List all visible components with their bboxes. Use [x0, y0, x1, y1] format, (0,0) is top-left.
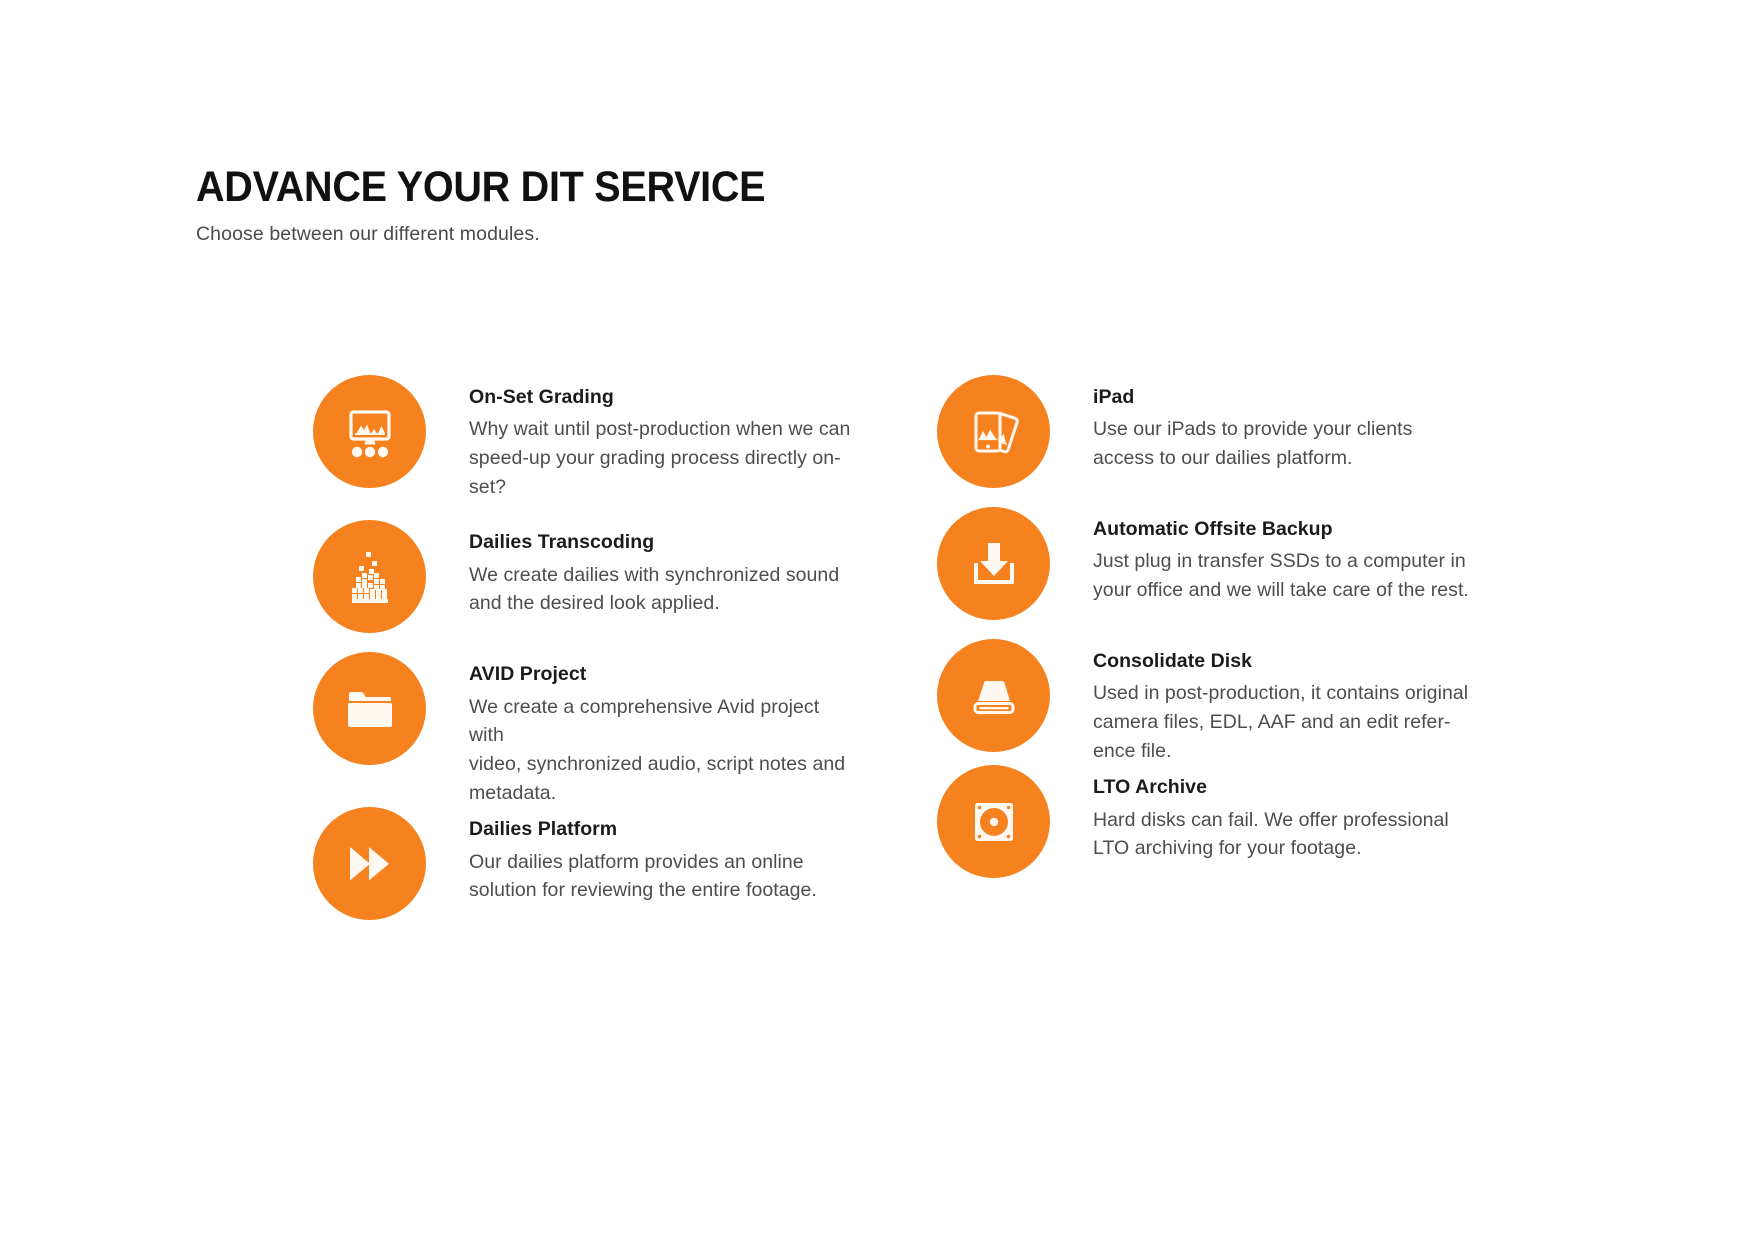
feature-icon-wrap	[313, 520, 426, 633]
feature-title: iPad	[1093, 385, 1412, 409]
feature-item-dailies-platform[interactable]: Dailies Platform Our dailies platform pr…	[313, 807, 877, 920]
feature-text: Automatic Offsite Backup Just plug in tr…	[1050, 507, 1469, 605]
feature-icon-wrap	[937, 765, 1050, 878]
feature-icon-wrap	[313, 652, 426, 765]
feature-description: Why wait until post-production when we c…	[469, 415, 856, 501]
feature-icon-wrap	[937, 507, 1050, 620]
lto-tape-icon	[937, 765, 1050, 878]
feature-icon-wrap	[937, 639, 1050, 752]
feature-text: On-Set Grading Why wait until post-produ…	[426, 375, 856, 501]
slide-root: ADVANCE YOUR DIT SERVICE Choose between …	[0, 0, 1754, 1241]
header: ADVANCE YOUR DIT SERVICE Choose between …	[196, 166, 1296, 246]
feature-text: AVID Project We create a comprehensive A…	[426, 652, 856, 807]
feature-title: Dailies Transcoding	[469, 530, 839, 554]
feature-icon-wrap	[313, 807, 426, 920]
feature-title: AVID Project	[469, 662, 856, 686]
feature-description: We create dailies with synchronized soun…	[469, 561, 839, 618]
pixel-dispersion-icon	[313, 520, 426, 633]
feature-text: LTO Archive Hard disks can fail. We offe…	[1050, 765, 1449, 863]
feature-title: On-Set Grading	[469, 385, 856, 409]
feature-item-consolidate-disk[interactable]: Consolidate Disk Used in post-production…	[937, 639, 1754, 765]
fast-forward-icon	[313, 807, 426, 920]
feature-item-on-set-grading[interactable]: On-Set Grading Why wait until post-produ…	[313, 375, 877, 501]
feature-column-left: On-Set Grading Why wait until post-produ…	[0, 375, 877, 958]
feature-title: Dailies Platform	[469, 817, 817, 841]
feature-description: Use our iPads to provide your clients ac…	[1093, 415, 1412, 472]
page-title: ADVANCE YOUR DIT SERVICE	[196, 166, 1208, 209]
folder-icon	[313, 652, 426, 765]
feature-description: Used in post-production, it contains ori…	[1093, 679, 1468, 765]
feature-description: Just plug in transfer SSDs to a computer…	[1093, 547, 1469, 604]
feature-description: Hard disks can fail. We offer profession…	[1093, 806, 1449, 863]
feature-title: Consolidate Disk	[1093, 649, 1468, 673]
feature-grid: On-Set Grading Why wait until post-produ…	[0, 375, 1754, 958]
feature-description: We create a comprehensive Avid project w…	[469, 693, 856, 808]
page-subtitle: Choose between our different modules.	[196, 223, 1296, 246]
feature-column-right: iPad Use our iPads to provide your clien…	[877, 375, 1754, 958]
feature-item-dailies-transcoding[interactable]: Dailies Transcoding We create dailies wi…	[313, 520, 877, 633]
hard-disk-icon	[937, 639, 1050, 752]
download-icon	[937, 507, 1050, 620]
feature-description: Our dailies platform provides an online …	[469, 848, 817, 905]
feature-icon-wrap	[313, 375, 426, 488]
feature-item-avid-project[interactable]: AVID Project We create a comprehensive A…	[313, 652, 877, 807]
feature-text: Consolidate Disk Used in post-production…	[1050, 639, 1468, 765]
feature-icon-wrap	[937, 375, 1050, 488]
feature-title: LTO Archive	[1093, 775, 1449, 799]
feature-item-lto-archive[interactable]: LTO Archive Hard disks can fail. We offe…	[937, 765, 1754, 878]
tablets-icon	[937, 375, 1050, 488]
feature-text: Dailies Platform Our dailies platform pr…	[426, 807, 817, 905]
feature-item-automatic-offsite-backup[interactable]: Automatic Offsite Backup Just plug in tr…	[937, 507, 1754, 620]
feature-text: Dailies Transcoding We create dailies wi…	[426, 520, 839, 618]
feature-item-ipad[interactable]: iPad Use our iPads to provide your clien…	[937, 375, 1754, 488]
monitor-landscape-icon	[313, 375, 426, 488]
feature-text: iPad Use our iPads to provide your clien…	[1050, 375, 1412, 473]
feature-title: Automatic Offsite Backup	[1093, 517, 1469, 541]
